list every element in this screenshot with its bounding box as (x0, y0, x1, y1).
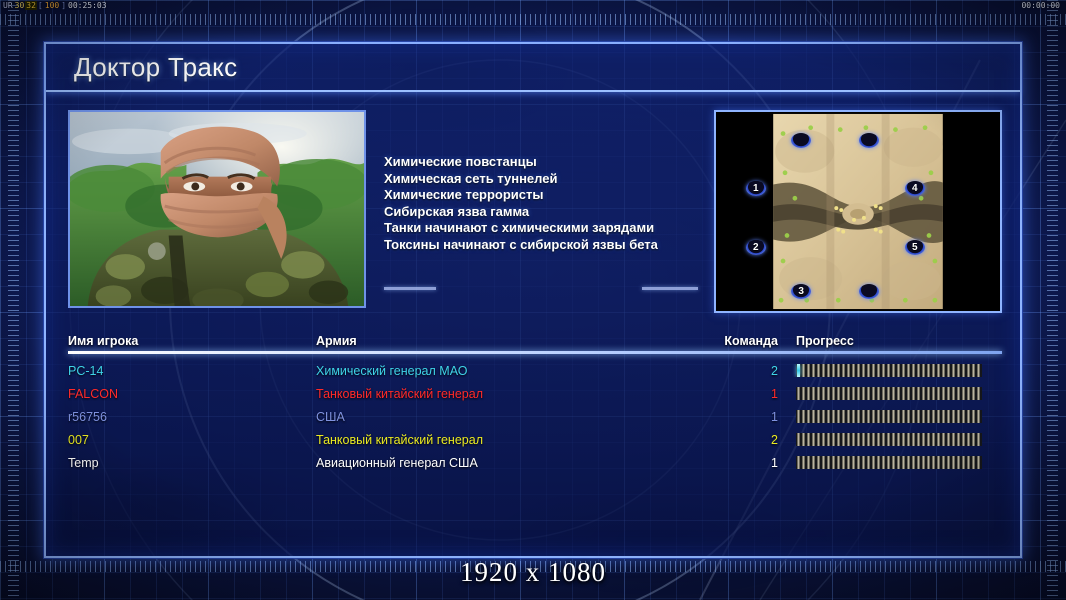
map-start-position-4[interactable]: 4 (905, 181, 925, 196)
progress-bar (796, 410, 982, 423)
header-divider (68, 351, 1002, 354)
player-row[interactable]: r56756США1 (68, 405, 1002, 428)
map-preview[interactable]: 14253 (714, 110, 1002, 313)
map-start-position-2[interactable]: 2 (746, 240, 766, 255)
player-progress-cell (782, 364, 982, 377)
general-description: Химические повстанцы Химическая сеть тун… (366, 110, 714, 308)
roster-header-row: Имя игрока Армия Команда Прогресс (68, 326, 1002, 348)
player-row[interactable]: TempАвиационный генерал США1 (68, 451, 1002, 474)
status-label: UR (2, 1, 14, 10)
map-start-position-5[interactable]: 5 (905, 240, 925, 255)
player-name: r56756 (68, 410, 316, 424)
player-army: Химический генерал МАО (316, 364, 698, 378)
roster-rows: PC-14Химический генерал МАО2FALCONТанков… (68, 359, 1002, 474)
status-value-1: 30 (14, 1, 26, 10)
progress-bar (796, 364, 982, 377)
panel-title-bar: Доктор Тракс (46, 44, 1020, 92)
map-start-positions: 14253 (716, 112, 1000, 311)
map-start-position-3[interactable]: 3 (791, 284, 811, 299)
player-army: Танковый китайский генерал (316, 433, 698, 447)
progress-bar-fill (796, 456, 982, 469)
description-line: Сибирская язва гамма (384, 204, 714, 221)
army-selection-panel: Доктор Тракс (44, 42, 1022, 558)
player-name: PC-14 (68, 364, 316, 378)
column-header-army: Армия (316, 334, 698, 348)
player-team: 1 (698, 410, 782, 424)
progress-bar (796, 387, 982, 400)
player-progress-cell (782, 410, 982, 423)
player-row[interactable]: PC-14Химический генерал МАО2 (68, 359, 1002, 382)
map-start-position-empty[interactable] (791, 133, 811, 148)
column-header-team: Команда (698, 334, 782, 348)
player-team: 2 (698, 364, 782, 378)
column-header-progress: Прогресс (782, 334, 982, 348)
debug-status-bar: UR3032[100]00:25:03 (2, 1, 108, 10)
map-start-position-empty[interactable] (859, 284, 879, 299)
player-progress-cell (782, 433, 982, 446)
player-progress-cell (782, 387, 982, 400)
player-team: 1 (698, 387, 782, 401)
description-list: Химические повстанцы Химическая сеть тун… (384, 154, 714, 253)
player-row[interactable]: 007Танковый китайский генерал2 (68, 428, 1002, 451)
player-progress-cell (782, 456, 982, 469)
general-portrait (68, 110, 366, 308)
player-roster: Имя игрока Армия Команда Прогресс PC-14Х… (46, 326, 1020, 556)
column-header-player-name: Имя игрока (68, 334, 316, 348)
progress-bar (796, 433, 982, 446)
progress-bar-fill (796, 387, 982, 400)
status-timer: 00:25:03 (67, 1, 108, 10)
progress-bar-fill (796, 364, 982, 377)
session-timer: 00:00:00 (1021, 1, 1060, 10)
player-name: 007 (68, 433, 316, 447)
map-start-position-1[interactable]: 1 (746, 181, 766, 196)
description-line: Танки начинают с химическими зарядами (384, 220, 714, 237)
description-line: Токсины начинают с сибирской язвы бета (384, 237, 714, 254)
progress-bar-active-segment (797, 364, 800, 377)
description-line: Химические повстанцы (384, 154, 714, 171)
description-line: Химическая сеть туннелей (384, 171, 714, 188)
player-team: 1 (698, 456, 782, 470)
progress-bar-fill (796, 433, 982, 446)
player-army: Танковый китайский генерал (316, 387, 698, 401)
status-bracket-open: [ (37, 1, 44, 10)
player-team: 2 (698, 433, 782, 447)
portrait-artwork (70, 112, 364, 306)
status-value-2: 32 (25, 1, 37, 10)
player-name: FALCON (68, 387, 316, 401)
page-title: Доктор Тракс (46, 52, 237, 83)
player-row[interactable]: FALCONТанковый китайский генерал1 (68, 382, 1002, 405)
player-army: США (316, 410, 698, 424)
decorative-dashes (384, 287, 704, 290)
progress-bar-fill (796, 410, 982, 423)
player-name: Temp (68, 456, 316, 470)
map-start-position-empty[interactable] (859, 133, 879, 148)
status-percent: 100 (44, 1, 60, 10)
player-army: Авиационный генерал США (316, 456, 698, 470)
general-info-row: Химические повстанцы Химическая сеть тун… (46, 92, 1020, 322)
status-bracket-close: ] (60, 1, 67, 10)
description-line: Химические террористы (384, 187, 714, 204)
resolution-overlay: 1920 x 1080 (0, 557, 1066, 588)
progress-bar (796, 456, 982, 469)
